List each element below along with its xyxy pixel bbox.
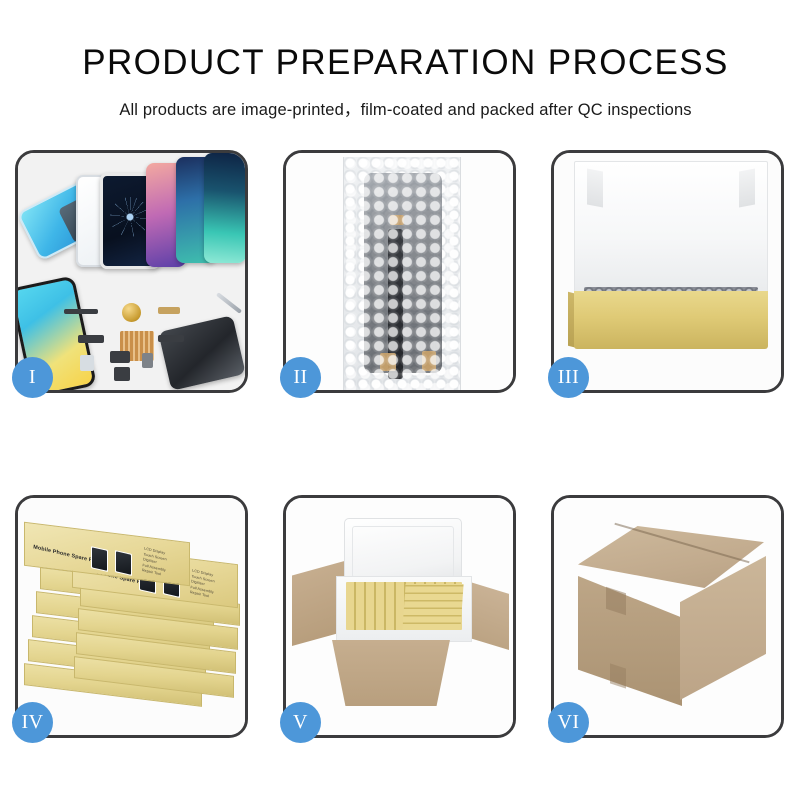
process-step-panel-3: III [551, 150, 784, 393]
small-part-4 [142, 353, 153, 368]
flex-cable-1 [64, 309, 98, 314]
bubble-wrap-scene [286, 153, 513, 390]
wrapped-screen [364, 173, 442, 373]
step-badge-4: IV [12, 702, 53, 743]
page-subtitle: All products are image-printed，film-coat… [0, 96, 811, 120]
bubble-wrap-sleeve [343, 157, 461, 390]
tweezers-tool [216, 292, 242, 314]
flex-cable-4 [158, 335, 184, 342]
process-step-panel-4: Mobile Phone Spare Parts LCD Display Tou… [15, 495, 248, 738]
teal-gradient-phone [204, 153, 245, 263]
gold-boxes-inside-right [402, 584, 463, 630]
phone-parts-scene [18, 153, 245, 390]
phone-back-housing [158, 315, 245, 390]
flex-cable-2 [158, 307, 180, 314]
step-6-image [554, 498, 781, 735]
carton-front-panel [324, 640, 458, 706]
box-specs-top: LCD Display Touch Screen Digitizer Full … [142, 546, 168, 577]
open-gold-box-scene [554, 153, 781, 390]
box-lid-white [574, 161, 768, 301]
box-specs-front: LCD Display Touch Screen Digitizer Full … [190, 568, 216, 599]
process-steps-grid: I II [15, 150, 796, 738]
crack-pattern [110, 197, 150, 237]
speaker-component [122, 303, 141, 322]
carton-left-face [578, 576, 682, 706]
sealed-carton-scene [554, 498, 781, 735]
process-step-panel-1: I [15, 150, 248, 393]
step-2-image [286, 153, 513, 390]
lid-tab-right [739, 168, 755, 207]
carton-foam-scene [286, 498, 513, 735]
step-5-image [286, 498, 513, 735]
step-badge-2: II [280, 357, 321, 398]
connector-bottom-right [422, 351, 436, 371]
flex-cable-3 [78, 335, 104, 343]
small-part-3 [114, 367, 130, 381]
box-mini-screen-top-2 [115, 550, 132, 576]
stacked-boxes-scene: Mobile Phone Spare Parts LCD Display Tou… [18, 498, 245, 735]
carton-tape-lower [610, 663, 626, 688]
step-badge-6: VI [548, 702, 589, 743]
step-1-image [18, 153, 245, 390]
step-3-image [554, 153, 781, 390]
box-mini-screen-top-1 [91, 546, 108, 572]
small-part-1 [80, 355, 94, 371]
step-badge-3: III [548, 357, 589, 398]
step-4-image: Mobile Phone Spare Parts LCD Display Tou… [18, 498, 245, 735]
connector-bottom-left [380, 353, 396, 371]
step-badge-5: V [280, 702, 321, 743]
gold-box-body [574, 291, 768, 349]
connector-top [390, 215, 404, 225]
process-step-panel-5: V [283, 495, 516, 738]
header: PRODUCT PREPARATION PROCESS All products… [0, 0, 811, 120]
small-part-2 [110, 351, 130, 363]
page-title: PRODUCT PREPARATION PROCESS [0, 44, 811, 83]
process-step-panel-2: II [283, 150, 516, 393]
lid-tab-left [587, 168, 603, 207]
step-badge-1: I [12, 357, 53, 398]
process-step-panel-6: VI [551, 495, 784, 738]
